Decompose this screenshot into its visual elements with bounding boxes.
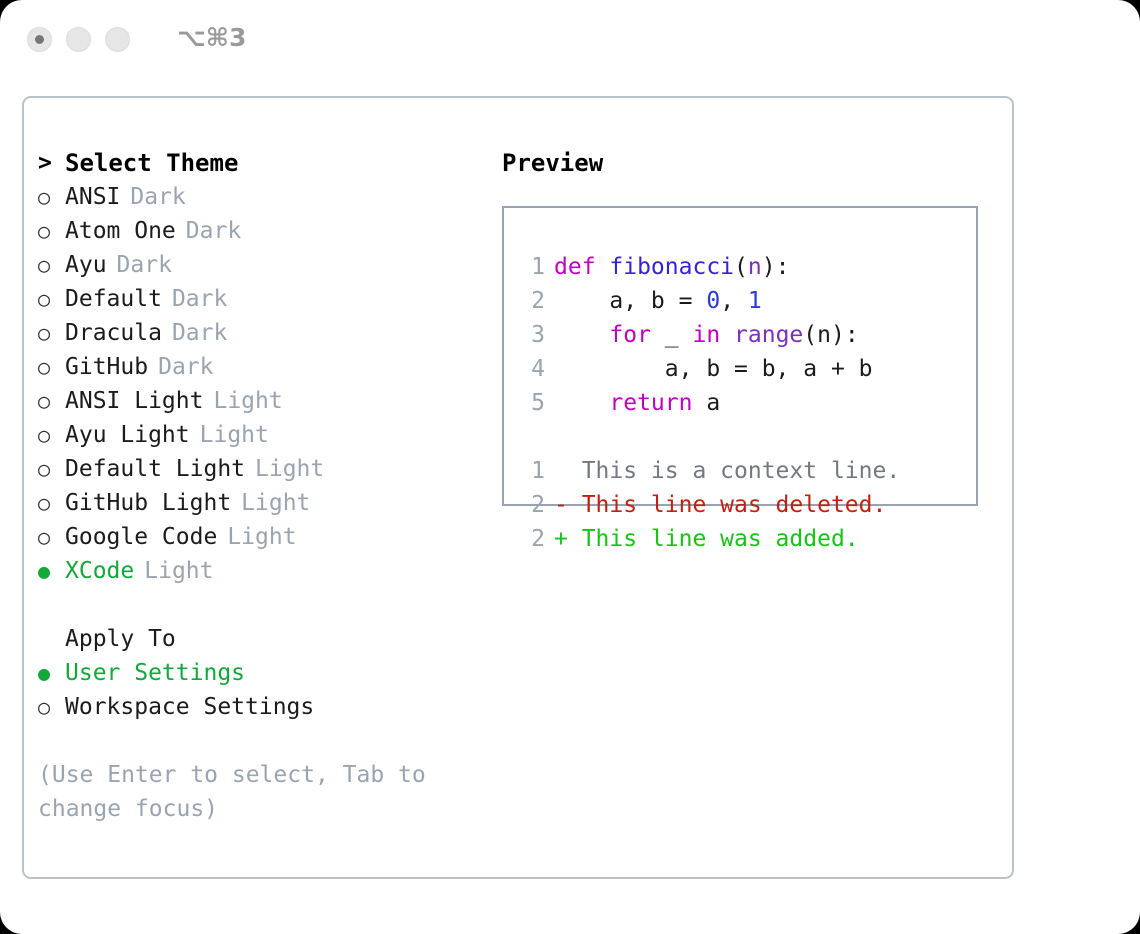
code-token-plain: a, b = [554,288,706,314]
code-line: 3 for _ in range(n): [519,318,976,352]
theme-item-label: GitHub Light [65,486,231,520]
apply-to-item-label: Workspace Settings [65,690,314,724]
traffic-light-third[interactable] [105,27,130,52]
diff-line-number: 2 [519,522,545,556]
radio-unselected-icon: ○ [38,350,65,384]
code-line-number: 2 [519,284,545,318]
theme-item-label: ANSI Light [65,384,203,418]
code-token-plain: a, b = b, a + b [554,356,873,382]
diff-sample: 1 This is a context line.2- This line wa… [519,454,976,556]
app-window: ⌥⌘3 > Select Theme ○ANSIDark○Atom OneDar… [0,0,1140,934]
code-line: 1def fibonacci(n): [519,250,976,284]
apply-to-title: Apply To [65,622,176,656]
code-token-plain: _ [651,322,693,348]
apply-to-header: Apply To [38,622,488,656]
theme-item-google-code[interactable]: ○Google CodeLight [38,520,488,554]
code-token-num: 1 [748,288,762,314]
diff-line-number: 1 [519,454,545,488]
theme-item-ansi-light[interactable]: ○ANSI LightLight [38,384,488,418]
diff-line-add: 2+ This line was added. [519,522,976,556]
code-line: 4 a, b = b, a + b [519,352,976,386]
keyboard-hint-text: (Use Enter to select, Tab to change focu… [38,758,438,826]
diff-line-number: 2 [519,488,545,522]
code-line-number: 4 [519,352,545,386]
code-line-number: 5 [519,386,545,420]
diff-line-text: - This line was deleted. [554,492,886,518]
theme-item-atom-one[interactable]: ○Atom OneDark [38,214,488,248]
code-sample: 1def fibonacci(n):2 a, b = 0, 13 for _ i… [519,250,976,420]
diff-line-text: + This line was added. [554,526,859,552]
code-token-kw: def [554,254,609,280]
preview-column: Preview 1def fibonacci(n):2 a, b = 0, 13… [502,146,1002,506]
code-token-kw: return [609,390,692,416]
theme-item-label: GitHub [65,350,148,384]
theme-item-variant: Light [227,520,296,554]
active-dot-icon [35,35,44,44]
code-token-plain: ( [734,254,748,280]
preview-spacer [519,420,976,454]
code-token-plain: , [720,288,748,314]
theme-item-label: Default [65,282,162,316]
theme-item-github[interactable]: ○GitHubDark [38,350,488,384]
diff-line-del: 2- This line was deleted. [519,488,976,522]
theme-item-variant: Light [200,418,269,452]
caret-icon: > [38,146,65,180]
theme-item-xcode[interactable]: ●XCodeLight [38,554,488,588]
theme-item-label: Ayu Light [65,418,190,452]
theme-item-default[interactable]: ○DefaultDark [38,282,488,316]
theme-item-github-light[interactable]: ○GitHub LightLight [38,486,488,520]
theme-selection-column: > Select Theme ○ANSIDark○Atom OneDark○Ay… [38,146,488,826]
code-token-num: 0 [706,288,720,314]
radio-unselected-icon: ○ [38,282,65,316]
radio-unselected-icon: ○ [38,452,65,486]
theme-item-variant: Dark [172,316,227,350]
apply-to-item-workspace-settings[interactable]: ○Workspace Settings [38,690,488,724]
theme-item-variant: Dark [130,180,185,214]
theme-item-ayu[interactable]: ○AyuDark [38,248,488,282]
code-token-var: n [748,254,762,280]
traffic-light-active[interactable] [27,27,52,52]
code-line: 2 a, b = 0, 1 [519,284,976,318]
theme-item-variant: Dark [172,282,227,316]
theme-item-label: Atom One [65,214,176,248]
radio-unselected-icon: ○ [38,418,65,452]
code-token-plain: a [692,390,720,416]
radio-unselected-icon: ○ [38,690,65,724]
theme-item-variant: Dark [117,248,172,282]
radio-unselected-icon: ○ [38,486,65,520]
theme-item-label: Dracula [65,316,162,350]
apply-to-item-user-settings[interactable]: ●User Settings [38,656,488,690]
theme-item-label: ANSI [65,180,120,214]
radio-selected-icon: ● [38,656,65,690]
theme-item-variant: Dark [186,214,241,248]
diff-line-context: 1 This is a context line. [519,454,976,488]
theme-item-variant: Light [241,486,310,520]
radio-unselected-icon: ○ [38,248,65,282]
title-bar: ⌥⌘3 [0,0,1140,78]
traffic-light-second[interactable] [66,27,91,52]
theme-list: ○ANSIDark○Atom OneDark○AyuDark○DefaultDa… [38,180,488,588]
code-token-kw: for [609,322,651,348]
code-token-plain: ): [762,254,790,280]
theme-item-ansi[interactable]: ○ANSIDark [38,180,488,214]
theme-item-dracula[interactable]: ○DraculaDark [38,316,488,350]
theme-item-variant: Light [144,554,213,588]
code-token-plain: (n): [803,322,858,348]
code-token-fn: fibonacci [609,254,734,280]
theme-item-label: Google Code [65,520,217,554]
window-shortcut-label: ⌥⌘3 [177,25,246,53]
main-panel: > Select Theme ○ANSIDark○Atom OneDark○Ay… [22,96,1014,879]
radio-unselected-icon: ○ [38,316,65,350]
code-token-plain [554,322,609,348]
theme-item-variant: Light [255,452,324,486]
diff-line-text: This is a context line. [554,458,900,484]
radio-unselected-icon: ○ [38,520,65,554]
theme-item-ayu-light[interactable]: ○Ayu LightLight [38,418,488,452]
theme-item-label: XCode [65,554,134,588]
radio-unselected-icon: ○ [38,214,65,248]
theme-item-variant: Dark [158,350,213,384]
select-theme-title: Select Theme [65,146,238,180]
radio-unselected-icon: ○ [38,180,65,214]
code-line: 5 return a [519,386,976,420]
apply-to-list: ●User Settings○Workspace Settings [38,656,488,724]
code-token-plain [720,322,734,348]
theme-item-label: Ayu [65,248,107,282]
radio-selected-icon: ● [38,554,65,588]
code-line-number: 1 [519,250,545,284]
theme-item-default-light[interactable]: ○Default LightLight [38,452,488,486]
radio-unselected-icon: ○ [38,384,65,418]
preview-heading: Preview [502,146,1002,180]
apply-to-section: Apply To ●User Settings○Workspace Settin… [38,622,488,724]
code-token-kw: in [692,322,720,348]
code-line-number: 3 [519,318,545,352]
apply-to-item-label: User Settings [65,656,245,690]
theme-item-variant: Light [213,384,282,418]
theme-item-label: Default Light [65,452,245,486]
code-token-plain [554,390,609,416]
select-theme-header: > Select Theme [38,146,488,180]
code-token-call: range [734,322,803,348]
preview-box: 1def fibonacci(n):2 a, b = 0, 13 for _ i… [502,206,978,506]
